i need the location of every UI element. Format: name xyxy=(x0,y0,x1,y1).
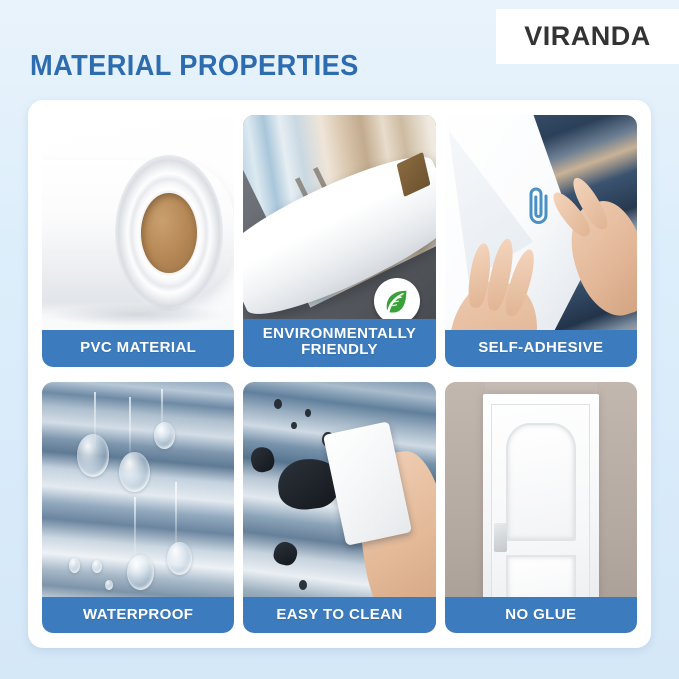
door-panel-upper xyxy=(506,423,576,541)
wall-right xyxy=(597,382,637,634)
brand-logo-box: VIRANDA xyxy=(496,9,679,64)
paperclip-icon xyxy=(522,183,556,229)
leaf-icon xyxy=(374,278,420,324)
feature-label-self-adhesive: SELF-ADHESIVE xyxy=(445,330,637,366)
feature-label-no-glue: NO GLUE xyxy=(445,597,637,633)
feature-label-easy-to-clean: EASY TO CLEAN xyxy=(243,597,435,633)
feature-label-environmentally-friendly: ENVIRONMENTALLY FRIENDLY xyxy=(243,319,435,366)
wall-left xyxy=(445,382,485,634)
feature-label-pvc-material: PVC MATERIAL xyxy=(42,330,234,366)
roll-shadow xyxy=(50,304,223,327)
stain-spot xyxy=(299,580,307,590)
water-droplet xyxy=(92,560,102,573)
water-droplet xyxy=(127,555,154,590)
feature-label-waterproof: WATERPROOF xyxy=(42,597,234,633)
pvc-roll-image xyxy=(42,115,234,367)
stain-spot xyxy=(274,399,282,409)
page-title: MATERIAL PROPERTIES xyxy=(30,50,359,83)
feature-grid: PVC MATERIAL ENVIRONMENTALLY xyxy=(42,115,637,633)
stain-smear xyxy=(272,540,299,567)
stain-spot xyxy=(305,409,311,417)
cleaning-cloth xyxy=(323,421,412,546)
water-droplet xyxy=(119,452,150,492)
waterproof-image xyxy=(42,382,234,634)
feature-label-line1: ENVIRONMENTALLY xyxy=(247,326,431,342)
stain-spot xyxy=(291,422,297,430)
feature-label-line2: FRIENDLY xyxy=(247,342,431,358)
feature-card-no-glue[interactable]: NO GLUE xyxy=(445,382,637,634)
brand-name: VIRANDA xyxy=(524,21,651,52)
self-adhesive-image xyxy=(445,115,637,367)
water-droplet xyxy=(154,422,175,450)
feature-panel: PVC MATERIAL ENVIRONMENTALLY xyxy=(28,100,651,648)
water-droplet xyxy=(69,558,81,573)
feature-card-waterproof[interactable]: WATERPROOF xyxy=(42,382,234,634)
door-handle-icon xyxy=(494,523,507,553)
feature-card-pvc-material[interactable]: PVC MATERIAL xyxy=(42,115,234,367)
feature-card-environmentally-friendly[interactable]: ENVIRONMENTALLY FRIENDLY xyxy=(243,115,435,367)
easy-to-clean-image xyxy=(243,382,435,634)
roll-cardboard-core xyxy=(141,193,197,273)
water-droplet xyxy=(167,542,192,575)
droplet-trail xyxy=(134,497,136,562)
feature-card-easy-to-clean[interactable]: EASY TO CLEAN xyxy=(243,382,435,634)
water-droplet xyxy=(77,434,110,477)
stain-smear xyxy=(248,444,278,475)
no-glue-image xyxy=(445,382,637,634)
water-droplet xyxy=(105,580,113,590)
feature-card-self-adhesive[interactable]: SELF-ADHESIVE xyxy=(445,115,637,367)
